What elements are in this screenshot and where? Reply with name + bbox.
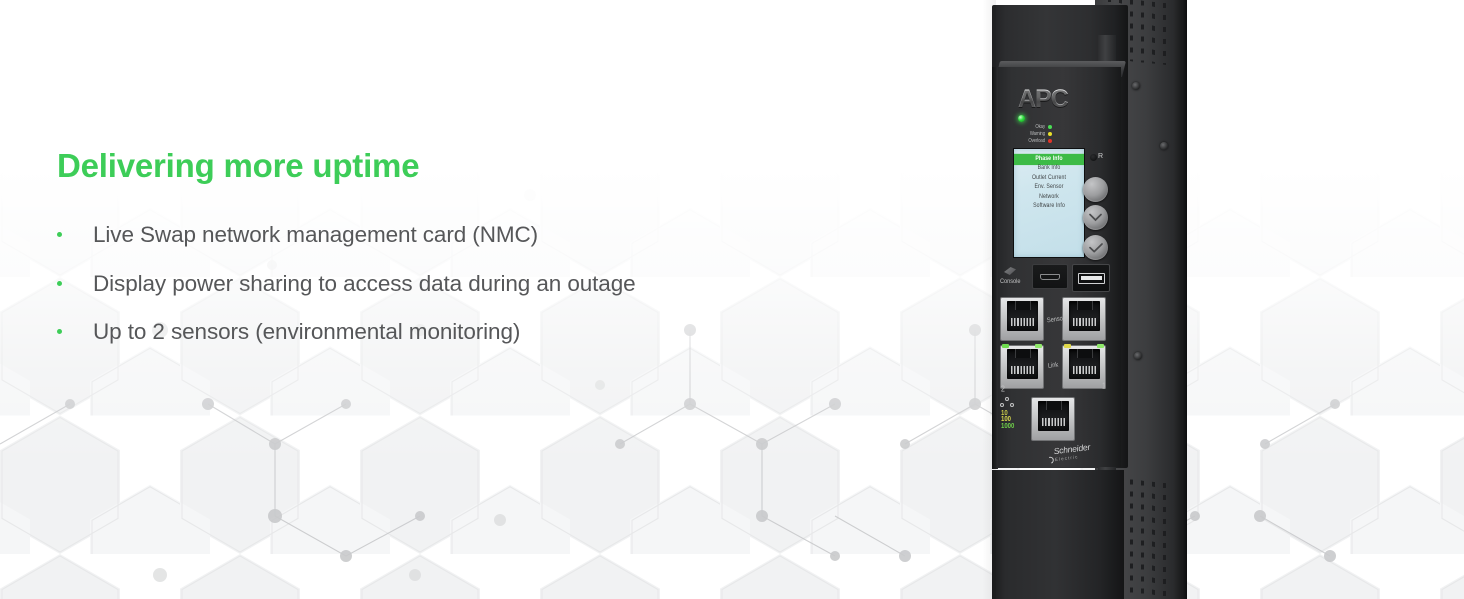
usb-a-icon	[1078, 273, 1105, 284]
led-legend-row: Overload	[1006, 138, 1052, 144]
bullet-dot-icon	[57, 232, 62, 237]
network-speed-1000: 1000	[1001, 423, 1014, 431]
list-item: Display power sharing to access data dur…	[57, 269, 636, 299]
usb-a-port[interactable]	[1072, 264, 1110, 292]
chassis-screw-icon	[1134, 352, 1142, 360]
network-speed-legend: 10 100 1000	[1001, 411, 1014, 430]
led-legend: Okay Warning Overload	[1006, 124, 1052, 145]
circuit-breaker-module: B4 L1-L2 ON I 20	[992, 470, 1124, 599]
lcd-menu-item-software-info[interactable]: Software Info	[1014, 201, 1084, 213]
bullet-dot-icon	[57, 329, 62, 334]
micro-usb-icon	[1040, 274, 1060, 280]
chassis-screw-icon	[1160, 142, 1168, 150]
micro-usb-port[interactable]	[1032, 264, 1068, 289]
chassis-screw-icon	[1132, 82, 1140, 90]
copy-block: Delivering more uptime Live Swap network…	[57, 148, 636, 365]
link-port-label: Link	[1048, 362, 1059, 371]
led-legend-row: Okay	[1006, 124, 1052, 130]
status-led-okay-indicator	[1018, 115, 1025, 122]
lcd-display[interactable]: Phase Info Bank Info Outlet Current Env.…	[1013, 148, 1085, 258]
list-item: Live Swap network management card (NMC)	[57, 220, 636, 250]
led-legend-row: Warning	[1006, 131, 1052, 137]
device-rear-edge	[1182, 0, 1187, 599]
led-label-okay: Okay	[1035, 124, 1045, 129]
chevron-down-icon	[1089, 213, 1102, 222]
list-item: Up to 2 sensors (environmental monitorin…	[57, 317, 636, 347]
nmc-front-panel: APC Okay Warning Overload Phase Info Ban…	[992, 5, 1128, 468]
rj45-cavity-icon	[1007, 301, 1038, 331]
list-item-label: Up to 2 sensors (environmental monitorin…	[93, 317, 520, 347]
rj45-port-sensor-2[interactable]	[1000, 297, 1044, 341]
reset-pinhole[interactable]	[1090, 154, 1097, 161]
check-icon	[1089, 243, 1103, 253]
page-title: Delivering more uptime	[57, 148, 636, 184]
rj45-port-link-2[interactable]	[1000, 345, 1044, 389]
rj45-led-green-icon	[1097, 344, 1104, 348]
scroll-down-button[interactable]	[1083, 205, 1108, 230]
rj45-led-green-icon	[1035, 344, 1042, 348]
console-port-label: Console	[1000, 278, 1021, 285]
device-drop-shadow	[982, 0, 996, 599]
list-item-label: Live Swap network management card (NMC)	[93, 220, 538, 250]
led-dot-warning-icon	[1048, 132, 1052, 136]
menu-button[interactable]	[1083, 177, 1108, 202]
port-number-1-label: 1	[1102, 382, 1106, 390]
bullet-dot-icon	[57, 281, 62, 286]
rj45-cavity-icon	[1007, 349, 1038, 379]
select-button[interactable]	[1083, 235, 1108, 260]
rj45-cavity-icon	[1069, 349, 1100, 379]
led-label-warning: Warning	[1030, 131, 1045, 136]
rj45-port-network-management[interactable]	[1031, 397, 1075, 441]
port-number-2-label: 2	[1001, 385, 1005, 393]
rj45-port-link-1[interactable]	[1062, 345, 1106, 389]
rj45-cavity-icon	[1038, 401, 1069, 431]
rj45-port-sensor-1[interactable]	[1062, 297, 1106, 341]
feature-bullet-list: Live Swap network management card (NMC) …	[57, 220, 636, 347]
list-item-label: Display power sharing to access data dur…	[93, 269, 636, 299]
led-dot-overload-icon	[1048, 139, 1052, 143]
reset-label: R	[1098, 153, 1103, 160]
rj45-led-yellow-icon	[1064, 344, 1071, 348]
apc-rack-pdu-device: APC Okay Warning Overload Phase Info Ban…	[992, 0, 1192, 599]
network-icon	[1000, 397, 1016, 408]
led-dot-okay-icon	[1048, 125, 1052, 129]
led-label-overload: Overload	[1028, 138, 1045, 143]
rj45-cavity-icon	[1069, 301, 1100, 331]
rj45-led-green-icon	[1002, 344, 1009, 348]
apc-logo: APC	[1018, 85, 1068, 114]
